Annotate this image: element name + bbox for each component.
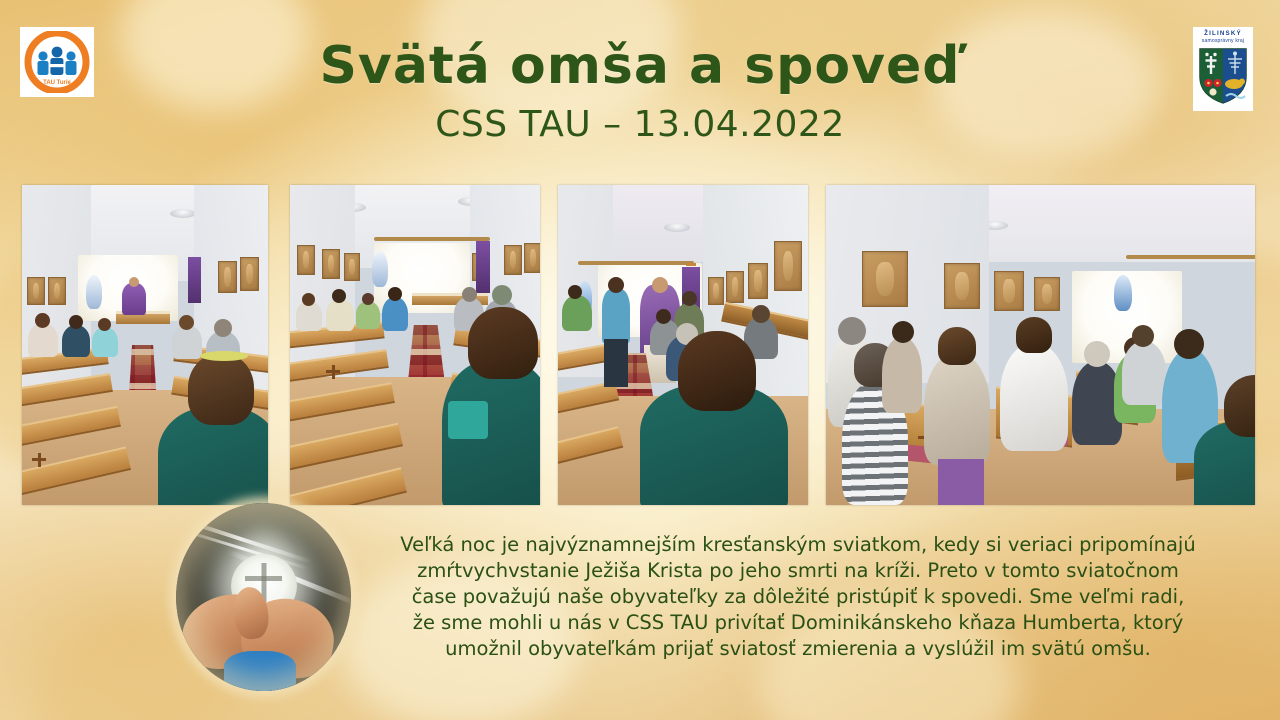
congregant-head — [608, 277, 624, 293]
photo-communion-3 — [558, 185, 808, 505]
congregant — [28, 323, 58, 357]
congregant-head — [938, 327, 976, 365]
curtain-rail — [578, 261, 694, 265]
wall-icon-plaque — [322, 249, 340, 279]
wall-icon-plaque — [944, 263, 980, 309]
purple-banner — [476, 241, 490, 293]
processional-cross-icon — [686, 263, 696, 266]
wall-icon-plaque — [862, 251, 908, 307]
photo-2-scene — [290, 185, 540, 505]
congregant-head — [188, 353, 254, 425]
congregant-head — [98, 318, 111, 331]
dark-trousers — [604, 339, 628, 387]
congregant-head — [678, 331, 756, 411]
teal-bag — [448, 401, 488, 439]
congregant-head — [69, 315, 83, 329]
body-paragraph: Veľká noc je najvýznamnejším kresťanským… — [398, 532, 1198, 662]
purple-trousers — [938, 459, 984, 505]
wall-icon-plaque — [218, 261, 237, 293]
wall-icon-plaque — [708, 277, 724, 305]
congregant — [382, 297, 408, 331]
congregant-head — [302, 293, 315, 306]
page-title: Svätá omša a spoveď — [0, 36, 1280, 96]
wall-icon-plaque — [240, 257, 259, 291]
congregant-head — [214, 319, 232, 337]
congregant-head — [462, 287, 477, 302]
eucharist-photo — [176, 503, 351, 691]
congregant-head — [388, 287, 402, 301]
marian-statue — [86, 275, 102, 309]
wall-icon-plaque — [994, 271, 1024, 311]
curtain-rail — [1126, 255, 1255, 259]
congregant-head — [492, 285, 512, 305]
wall-icon-plaque — [344, 253, 360, 281]
page-subtitle: CSS TAU – 13.04.2022 — [0, 104, 1280, 145]
congregant — [326, 299, 354, 331]
congregant — [92, 327, 118, 357]
marian-statue — [372, 251, 388, 287]
congregant-head — [468, 307, 538, 379]
ceiling-lamp-icon — [170, 209, 196, 218]
wall-icon-plaque — [48, 277, 66, 305]
congregant-head — [332, 289, 346, 303]
wall-icon-plaque — [748, 263, 768, 299]
wall-icon-plaque — [297, 245, 315, 275]
wall-icon-plaque — [726, 271, 744, 303]
congregant-head — [1224, 375, 1255, 437]
marian-statue — [1114, 275, 1132, 311]
congregant-head — [35, 313, 50, 328]
congregant-head — [656, 309, 671, 324]
curtain-rail — [374, 237, 490, 241]
ceiling-lamp-icon — [664, 223, 690, 232]
photo-1-scene — [22, 185, 268, 505]
wall-icon-plaque — [504, 245, 522, 275]
photo-chapel-mass-1 — [22, 185, 268, 505]
congregant-standing — [1000, 343, 1068, 451]
congregant-head — [1016, 317, 1052, 353]
photo-4-scene — [826, 185, 1255, 505]
wall-icon-plaque — [27, 277, 45, 305]
hair-band — [200, 351, 248, 361]
priest-head — [652, 277, 668, 293]
congregant-head — [892, 321, 914, 343]
congregant-head — [838, 317, 866, 345]
congregant-head — [752, 305, 770, 323]
congregant-standing — [602, 289, 630, 343]
photo-chapel-mass-2 — [290, 185, 540, 505]
congregant-standing — [924, 353, 990, 465]
pew-cross-icon — [326, 365, 340, 379]
congregant — [62, 325, 90, 357]
congregant-head — [1132, 325, 1154, 347]
congregant-head — [682, 291, 697, 306]
congregant — [356, 301, 380, 329]
wall-icon-plaque — [1034, 277, 1060, 311]
priest — [122, 283, 146, 315]
purple-banner — [188, 257, 201, 303]
congregant-standing — [882, 337, 922, 413]
photo-congregation-4 — [826, 185, 1255, 505]
congregant — [172, 325, 202, 359]
wall-icon-plaque — [524, 243, 540, 273]
congregant-head — [1174, 329, 1204, 359]
congregant-standing — [1122, 341, 1166, 405]
congregant-head — [568, 285, 582, 299]
priest-head — [129, 277, 139, 287]
congregant-head — [1084, 341, 1110, 367]
vignette — [176, 503, 351, 691]
pew-cross-icon — [32, 453, 46, 467]
wall-icon-plaque — [774, 241, 802, 291]
photo-3-scene — [558, 185, 808, 505]
congregant — [562, 295, 592, 331]
congregant-head — [179, 315, 194, 330]
congregant-head — [362, 293, 374, 305]
